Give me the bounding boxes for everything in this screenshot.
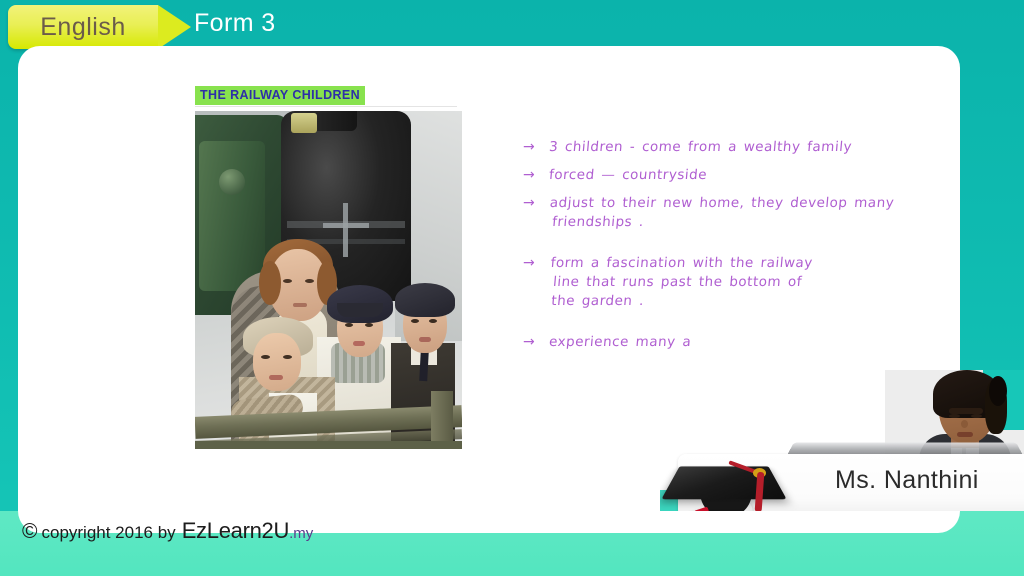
note-text: forced — countryside (548, 166, 708, 185)
presenter-name: Ms. Nanthini (835, 466, 979, 495)
photo-girl1-eye-right (283, 355, 292, 359)
copyright-symbol-icon: © (22, 521, 37, 542)
photo-woman-eye-left (283, 279, 292, 283)
note-arrow-icon: → (523, 138, 549, 157)
note-text: 3 children - come from a wealthy family (548, 138, 853, 157)
photo-smokebox-cross-horizontal (323, 223, 369, 228)
note-line-2: line that runs past the bottom of (548, 273, 812, 292)
note-item: → form a fascination with the railway li… (523, 254, 923, 311)
note-line-1: adjust to their new home, they develop m… (549, 195, 895, 211)
note-item: → 3 children - come from a wealthy famil… (523, 138, 923, 157)
subject-tab-label: English (8, 5, 158, 49)
note-item: → forced — countryside (523, 166, 923, 185)
photo-woman-eye-right (305, 279, 314, 283)
form-level-label: Form 3 (194, 9, 276, 38)
note-line-1: experience many a (548, 334, 692, 350)
brand-name: EzLearn2U (182, 518, 289, 544)
copyright-notice: © copyright 2016 by EzLearn2U .my (22, 518, 313, 544)
note-arrow-icon: → (523, 254, 549, 273)
note-arrow-icon: → (523, 166, 549, 185)
photo-boy-hat (395, 283, 455, 317)
note-line-2: friendships . (547, 213, 893, 232)
graduation-tassel (755, 472, 765, 512)
photo-girl2-eye-left (345, 323, 353, 327)
photo-boy-eye-right (429, 319, 437, 323)
slide-root: English Form 3 THE RAILWAY CHILDREN (0, 0, 1024, 576)
photo-ground (195, 441, 462, 449)
photo-girl2-fringe (337, 303, 383, 317)
photo-lamp (291, 113, 317, 133)
note-line-3: the garden . (547, 292, 811, 311)
photo-woman-hair-left (259, 261, 281, 305)
photo-boy-tie (419, 351, 429, 381)
note-line-1: forced — countryside (548, 167, 707, 183)
note-arrow-icon: → (523, 194, 549, 213)
topic-heading-wrap: THE RAILWAY CHILDREN (195, 86, 365, 105)
note-text: adjust to their new home, they develop m… (547, 194, 895, 232)
subject-tab[interactable]: English (8, 5, 158, 49)
photo-girl1-mouth (269, 375, 283, 380)
photo-locomotive-rivet (219, 169, 245, 195)
note-line-1: form a fascination with the railway (550, 255, 813, 271)
brand-tld: .my (289, 525, 313, 542)
photo-smokebox-cross-vertical (343, 203, 348, 257)
webcam-presenter-eye-left (949, 414, 960, 418)
topic-heading: THE RAILWAY CHILDREN (195, 86, 365, 105)
photo-boy-eye-left (411, 319, 419, 323)
note-arrow-icon: → (523, 333, 549, 352)
photo-girl2-eye-right (365, 323, 373, 327)
webcam-presenter-mouth (957, 432, 973, 437)
film-still-image (195, 111, 462, 449)
webcam-presenter-nose (961, 420, 968, 428)
handwritten-notes: → 3 children - come from a wealthy famil… (523, 138, 923, 361)
photo-woman-mouth (293, 303, 307, 307)
note-item: → adjust to their new home, they develop… (523, 194, 923, 232)
webcam-presenter-ponytail (989, 376, 1007, 406)
note-item: → experience many a (523, 333, 923, 352)
graduation-cap-board (661, 466, 786, 499)
photo-girl2-mouth (353, 341, 365, 346)
photo-girl1-eye-left (261, 355, 270, 359)
topic-underline (195, 106, 457, 107)
copyright-text: copyright 2016 by (41, 523, 175, 543)
photo-girl1-head (253, 333, 301, 391)
note-text: form a fascination with the railway line… (547, 254, 814, 311)
note-line-1: 3 children - come from a wealthy family (548, 139, 852, 155)
photo-locomotive-panel (199, 141, 265, 291)
webcam-presenter-eye-right (971, 414, 982, 418)
photo-boy-mouth (419, 337, 431, 342)
note-text: experience many a (548, 333, 692, 352)
